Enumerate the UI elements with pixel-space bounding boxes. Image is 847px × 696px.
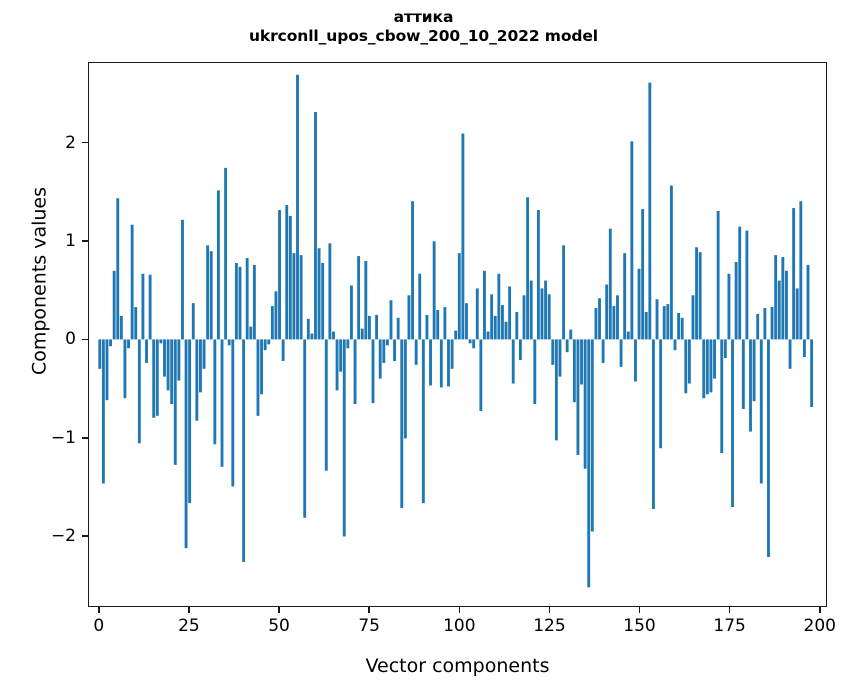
- x-tick-mark: [549, 607, 551, 613]
- bar: [246, 258, 249, 339]
- bar: [257, 339, 260, 415]
- bar: [318, 248, 321, 339]
- bar: [195, 339, 198, 420]
- bar: [149, 275, 152, 340]
- bar: [706, 339, 709, 394]
- bar: [163, 339, 166, 376]
- bar: [328, 243, 331, 339]
- bar: [116, 198, 119, 339]
- bar: [652, 339, 655, 509]
- bar: [505, 322, 508, 340]
- x-tick-mark: [278, 607, 280, 613]
- bar: [512, 339, 515, 383]
- bar: [749, 339, 752, 431]
- bar: [429, 339, 432, 385]
- bar: [479, 339, 482, 411]
- bar: [648, 83, 651, 340]
- bar: [386, 339, 389, 345]
- bar: [789, 339, 792, 368]
- x-tick-label: 125: [519, 616, 579, 636]
- bar: [422, 339, 425, 503]
- bar: [724, 339, 727, 358]
- bar: [602, 339, 605, 363]
- bar: [404, 339, 407, 438]
- bar: [569, 330, 572, 340]
- bar: [210, 251, 213, 339]
- bar: [756, 314, 759, 339]
- bar: [203, 339, 206, 368]
- bar: [397, 318, 400, 340]
- x-tick-label: 0: [69, 616, 129, 636]
- bar: [810, 339, 813, 407]
- bar: [408, 295, 411, 339]
- bar: [188, 339, 191, 503]
- bar: [666, 304, 669, 339]
- chart-title: аттика ukrconll_upos_cbow_200_10_2022 mo…: [0, 8, 847, 46]
- x-tick-mark: [188, 607, 190, 613]
- bar: [382, 339, 385, 363]
- bar: [199, 339, 202, 392]
- bar: [771, 307, 774, 339]
- bar: [224, 168, 227, 340]
- bar: [753, 339, 756, 401]
- bar: [278, 210, 281, 339]
- bar: [555, 339, 558, 440]
- bar: [440, 339, 443, 387]
- bar: [612, 306, 615, 339]
- bar: [271, 306, 274, 339]
- bar: [314, 112, 317, 339]
- bar: [454, 331, 457, 340]
- x-tick-label: 75: [339, 616, 399, 636]
- chart-title-line-1: аттика: [0, 8, 847, 27]
- bar: [630, 141, 633, 339]
- bar: [447, 339, 450, 386]
- bar: [436, 310, 439, 339]
- x-tick-mark: [639, 607, 641, 613]
- bar: [544, 281, 547, 340]
- bar: [483, 271, 486, 340]
- bar: [217, 190, 220, 339]
- bar: [292, 253, 295, 339]
- bar: [641, 209, 644, 339]
- bar: [623, 253, 626, 339]
- x-tick-label: 100: [429, 616, 489, 636]
- bar: [124, 339, 127, 398]
- bar: [235, 263, 238, 339]
- x-tick-label: 25: [159, 616, 219, 636]
- bar: [576, 339, 579, 455]
- y-tick-mark: [82, 339, 88, 341]
- bar: [541, 288, 544, 339]
- bar: [674, 339, 677, 350]
- bar: [717, 211, 720, 339]
- y-tick-label: −2: [16, 526, 76, 546]
- bar: [763, 308, 766, 339]
- bar: [735, 262, 738, 339]
- bar: [260, 339, 263, 394]
- bar: [102, 339, 105, 483]
- bar: [720, 339, 723, 453]
- bar: [106, 339, 109, 400]
- bar: [605, 285, 608, 340]
- bar: [296, 75, 299, 340]
- bar: [713, 339, 716, 378]
- bar: [490, 294, 493, 339]
- bar: [418, 274, 421, 340]
- bar: [760, 339, 763, 483]
- bar: [113, 271, 116, 340]
- y-tick-mark: [82, 240, 88, 242]
- bar: [339, 339, 342, 371]
- bar: [796, 288, 799, 339]
- bar: [530, 281, 533, 340]
- bar: [620, 339, 623, 366]
- bar: [177, 339, 180, 380]
- bar: [519, 339, 522, 360]
- bar: [566, 339, 569, 352]
- bar: [156, 339, 159, 415]
- x-tick-label: 150: [610, 616, 670, 636]
- bar: [774, 255, 777, 339]
- y-tick-label: −1: [16, 428, 76, 448]
- bar: [533, 339, 536, 404]
- bar: [515, 312, 518, 339]
- bar: [702, 339, 705, 398]
- bar: [781, 257, 784, 339]
- bar: [379, 339, 382, 378]
- bar: [213, 339, 216, 444]
- bar: [393, 339, 396, 361]
- x-tick-label: 50: [249, 616, 309, 636]
- bar: [677, 313, 680, 339]
- bar: [609, 229, 612, 340]
- bar: [699, 252, 702, 339]
- bar: [98, 339, 101, 368]
- bar: [321, 263, 324, 339]
- bar: [742, 339, 745, 409]
- bar: [131, 225, 134, 340]
- bar: [487, 332, 490, 340]
- bar: [336, 339, 339, 390]
- bar: [167, 339, 170, 390]
- bar: [745, 231, 748, 340]
- bar: [361, 329, 364, 340]
- bar: [300, 255, 303, 339]
- bar: [656, 299, 659, 339]
- y-axis-label: Components values: [29, 9, 51, 554]
- bar: [249, 327, 252, 340]
- bar: [145, 339, 148, 363]
- bar: [228, 339, 231, 345]
- bar: [627, 332, 630, 340]
- bar: [239, 267, 242, 340]
- bar: [663, 306, 666, 339]
- bar: [688, 339, 691, 383]
- bar: [282, 339, 285, 361]
- bar: [807, 265, 810, 339]
- y-tick-label: 0: [16, 329, 76, 349]
- bar: [494, 316, 497, 340]
- bar: [242, 339, 245, 561]
- bar: [584, 339, 587, 468]
- bar: [458, 253, 461, 339]
- bar: [303, 339, 306, 517]
- bar: [127, 339, 130, 348]
- bar: [727, 274, 730, 340]
- bar: [275, 291, 278, 339]
- bar: [138, 339, 141, 443]
- bar: [411, 201, 414, 339]
- bar: [181, 220, 184, 340]
- bar: [289, 216, 292, 339]
- bar: [469, 339, 472, 343]
- bar: [799, 201, 802, 339]
- bar: [587, 339, 590, 587]
- bar: [634, 339, 637, 381]
- bar: [134, 307, 137, 339]
- bar: [461, 134, 464, 340]
- bar: [372, 339, 375, 403]
- bar: [285, 205, 288, 339]
- bar: [591, 339, 594, 531]
- bar: [109, 339, 112, 346]
- y-tick-mark: [82, 142, 88, 144]
- bar: [443, 307, 446, 339]
- bar: [267, 339, 270, 344]
- bar: [120, 316, 123, 340]
- bar: [684, 339, 687, 393]
- bar: [580, 339, 583, 384]
- bar: [738, 227, 741, 340]
- bar: [472, 339, 475, 348]
- bar: [354, 339, 357, 404]
- bar: [785, 271, 788, 340]
- bar: [400, 339, 403, 508]
- bar: [523, 295, 526, 339]
- bar: [710, 339, 713, 392]
- bar: [537, 210, 540, 339]
- bar: [390, 300, 393, 339]
- y-tick-label: 2: [16, 133, 76, 153]
- bar: [792, 208, 795, 339]
- x-axis-label: Vector components: [88, 655, 827, 677]
- bar: [174, 339, 177, 464]
- bar: [695, 247, 698, 339]
- bar: [559, 339, 562, 376]
- bar: [253, 265, 256, 339]
- bar: [451, 339, 454, 368]
- bar: [170, 339, 173, 404]
- x-tick-mark: [729, 607, 731, 613]
- bar: [332, 332, 335, 340]
- bar: [767, 339, 770, 557]
- bar: [141, 274, 144, 340]
- bar: [375, 315, 378, 339]
- bar: [501, 305, 504, 339]
- bar: [508, 286, 511, 339]
- bar: [433, 241, 436, 339]
- bar: [343, 339, 346, 536]
- bar: [778, 281, 781, 340]
- bar: [346, 339, 349, 348]
- bar: [548, 294, 551, 339]
- y-tick-mark: [82, 535, 88, 537]
- bar: [357, 256, 360, 339]
- bar: [152, 339, 155, 417]
- bar: [221, 339, 224, 466]
- bar: [551, 339, 554, 364]
- y-tick-mark: [82, 437, 88, 439]
- bar: [562, 245, 565, 339]
- x-tick-mark: [98, 607, 100, 613]
- plot-area: [88, 62, 827, 607]
- bar: [185, 339, 188, 548]
- x-tick-label: 175: [700, 616, 760, 636]
- bar: [364, 261, 367, 339]
- bar: [659, 339, 662, 448]
- bar: [426, 315, 429, 339]
- bar: [350, 285, 353, 339]
- x-tick-mark: [459, 607, 461, 613]
- x-tick-label: 200: [790, 616, 847, 636]
- bar: [192, 303, 195, 339]
- bar: [264, 339, 267, 350]
- bar: [645, 312, 648, 339]
- bar: [803, 339, 806, 357]
- bar: [310, 334, 313, 340]
- bar: [573, 339, 576, 402]
- bar: [206, 245, 209, 339]
- bar: [159, 339, 162, 343]
- bar-series: [89, 63, 826, 606]
- bar: [307, 319, 310, 340]
- bar: [231, 339, 234, 486]
- bar: [368, 316, 371, 340]
- y-tick-label: 1: [16, 231, 76, 251]
- bar: [415, 339, 418, 364]
- bar: [497, 274, 500, 340]
- bar: [594, 308, 597, 339]
- x-tick-mark: [819, 607, 821, 613]
- chart-figure: аттика ukrconll_upos_cbow_200_10_2022 mo…: [0, 0, 847, 696]
- bar: [731, 339, 734, 507]
- bar: [598, 298, 601, 339]
- bar: [476, 288, 479, 339]
- bar: [325, 339, 328, 470]
- bar: [670, 186, 673, 340]
- bar: [616, 295, 619, 339]
- bar: [465, 303, 468, 339]
- bar: [681, 318, 684, 340]
- chart-title-line-2: ukrconll_upos_cbow_200_10_2022 model: [0, 27, 847, 46]
- bar: [692, 295, 695, 339]
- x-tick-mark: [368, 607, 370, 613]
- bar: [526, 197, 529, 339]
- bar: [638, 269, 641, 340]
